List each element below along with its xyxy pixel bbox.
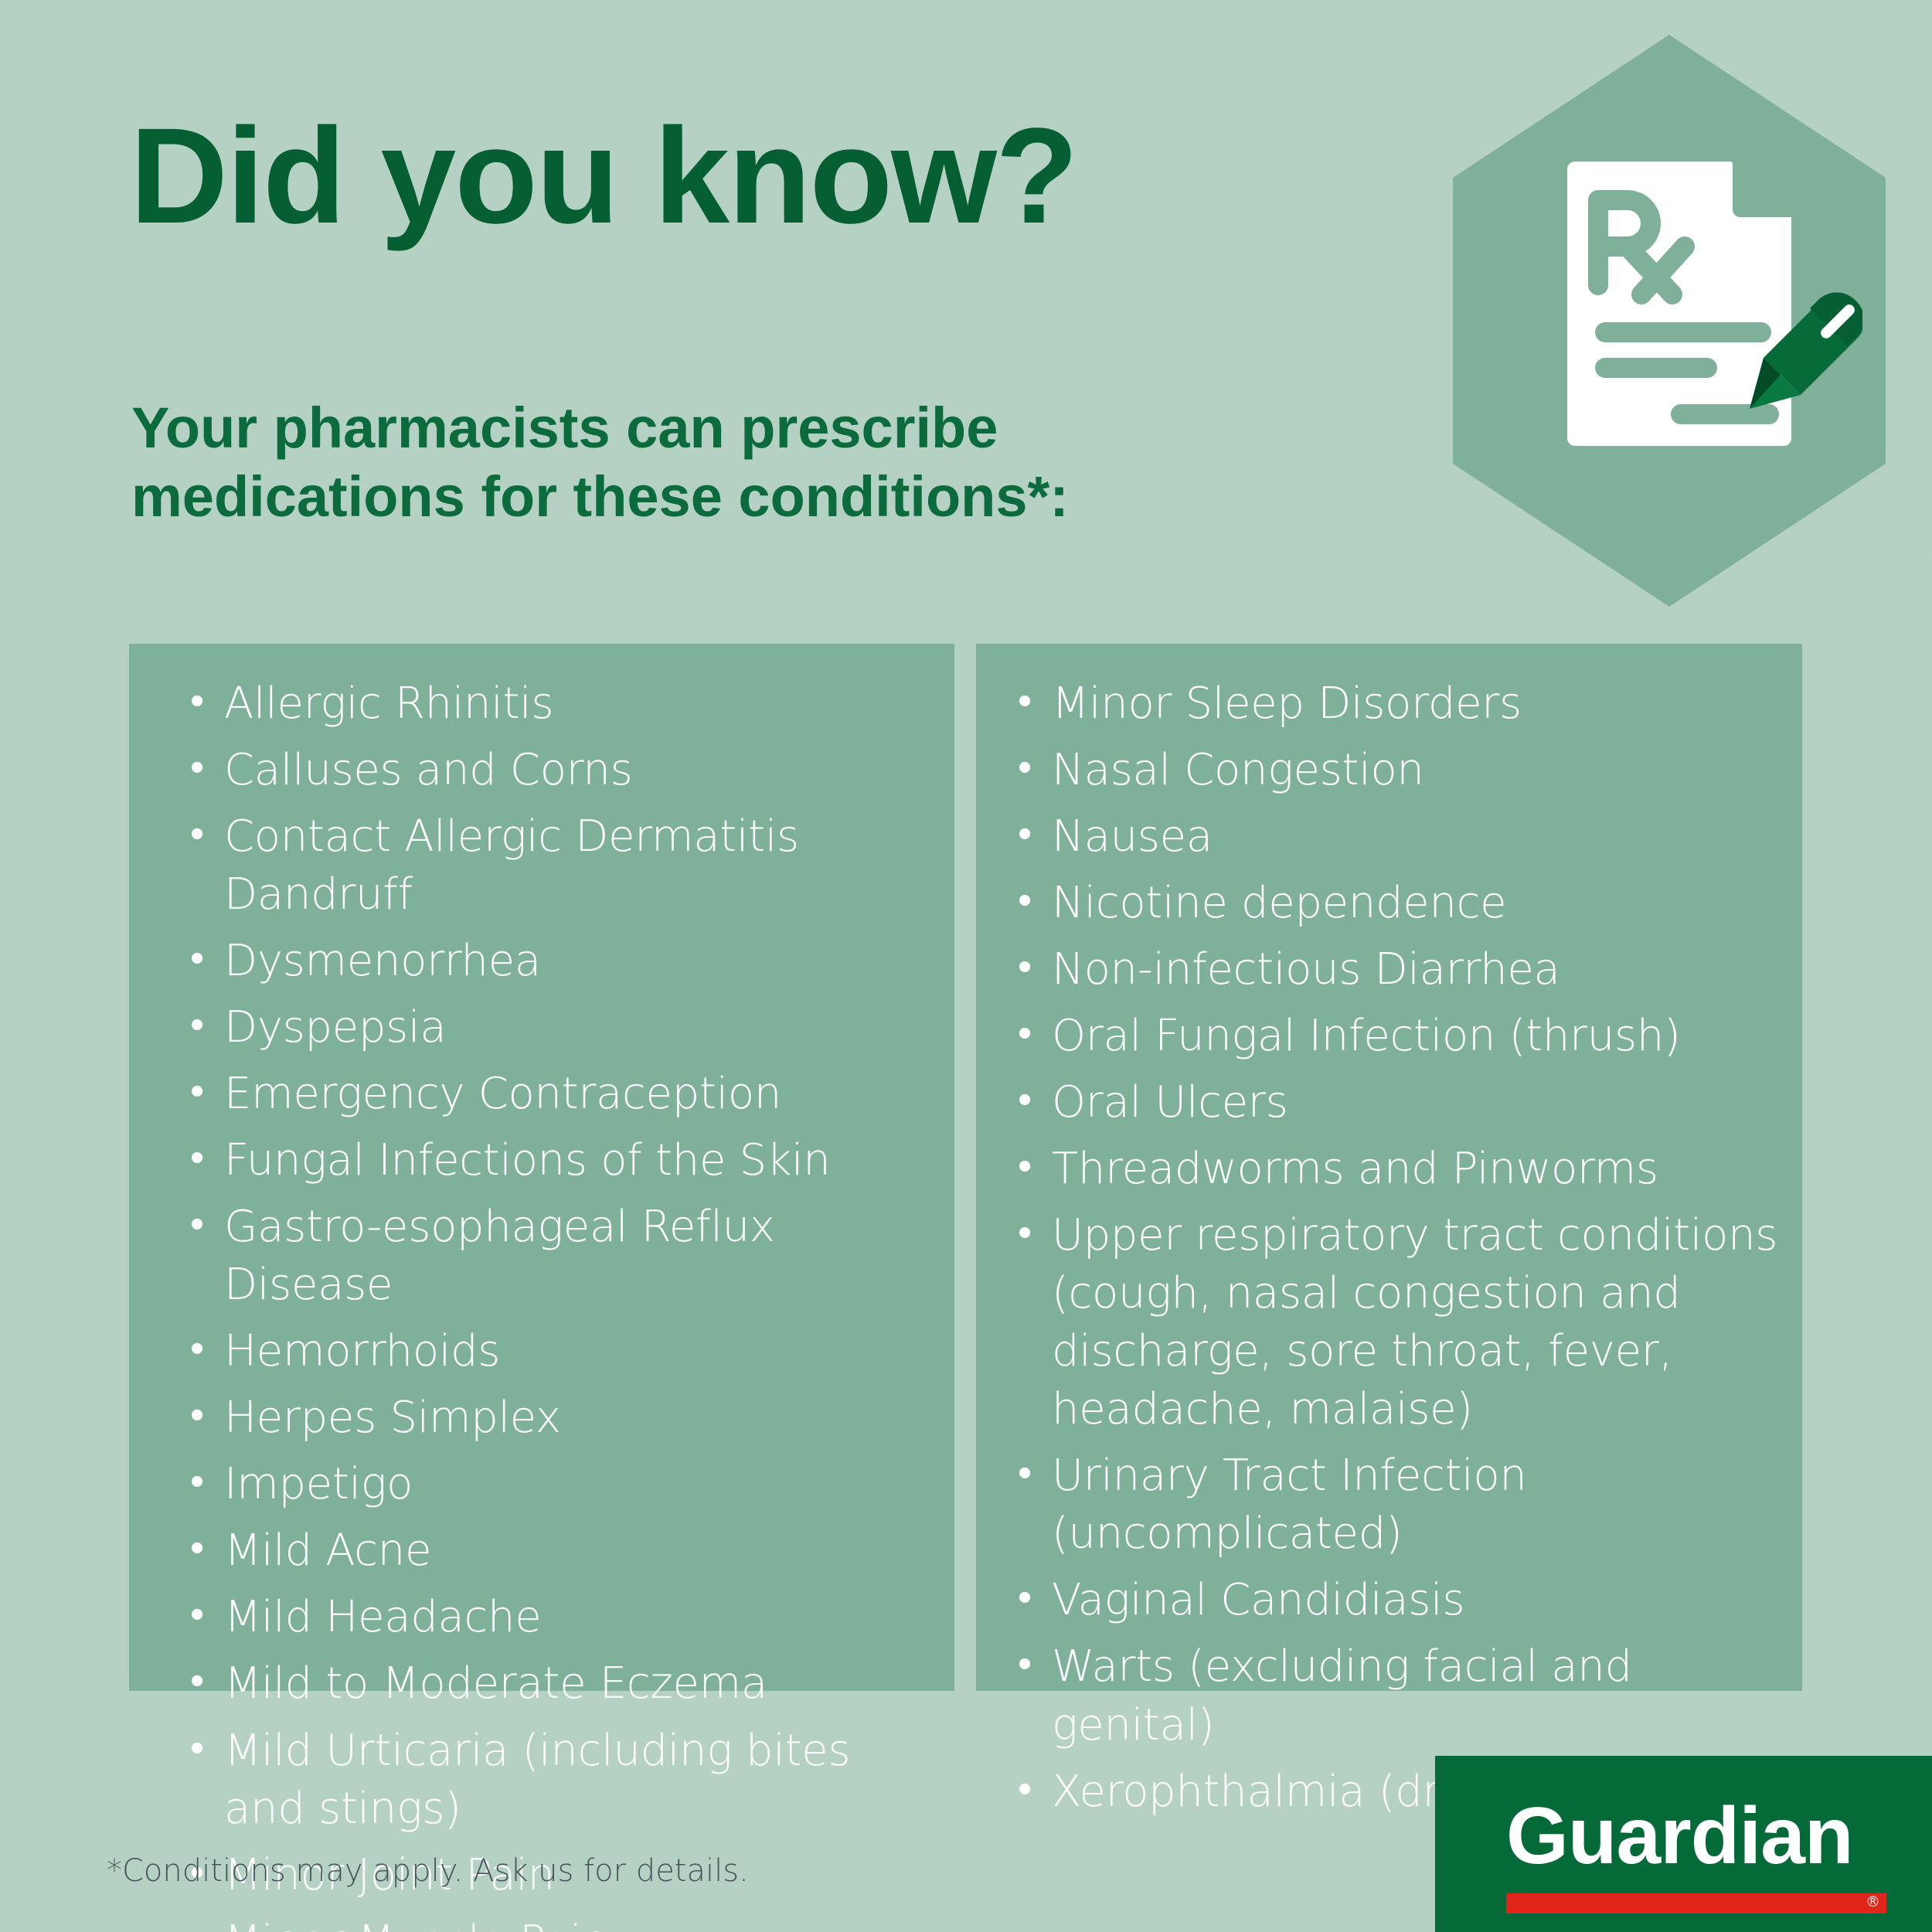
list-item: Nicotine dependence (1015, 874, 1787, 932)
page-title: Did you know? (130, 108, 1077, 244)
list-item: Warts (excluding facial and genital) (1015, 1638, 1787, 1753)
list-item: Oral Fungal Infection (thrush) (1015, 1007, 1787, 1065)
list-item: Minor Muscle Pain (187, 1913, 929, 1932)
registered-trademark-icon: ® (1866, 1895, 1880, 1910)
conditions-list-right: Minor Sleep Disorders Nasal Congestion N… (1015, 675, 1787, 1829)
list-item: Hemorrhoids (187, 1322, 929, 1380)
list-item: Non-infectious Diarrhea (1015, 940, 1787, 998)
infographic-poster: Did you know? Your pharmacists can presc… (0, 0, 1932, 1932)
list-item: Nasal Congestion (1015, 741, 1787, 799)
list-item: Dysmenorrhea (187, 932, 929, 990)
list-item: Minor Sleep Disorders (1015, 675, 1787, 733)
prescription-rx-icon (1561, 151, 1862, 460)
list-item: Nausea (1015, 808, 1787, 866)
list-item: Mild Headache (187, 1588, 929, 1646)
conditions-list-left: Allergic Rhinitis Calluses and Corns Con… (187, 675, 929, 1932)
list-item: Threadworms and Pinworms (1015, 1140, 1787, 1198)
footnote-disclaimer: *Conditions may apply. Ask us for detail… (107, 1853, 749, 1889)
list-item: Emergency Contraception (187, 1065, 929, 1123)
page-subtitle: Your pharmacists can prescribe medicatio… (131, 394, 1291, 532)
list-item: Mild Acne (187, 1522, 929, 1580)
list-item: Mild Urticaria (including bites and stin… (187, 1722, 929, 1838)
list-item: Vaginal Candidiasis (1015, 1571, 1787, 1629)
list-item: Mild to Moderate Eczema (187, 1655, 929, 1713)
list-item: Oral Ulcers (1015, 1073, 1787, 1131)
list-item: Dyspepsia (187, 998, 929, 1056)
list-item: Allergic Rhinitis (187, 675, 929, 733)
list-item: Fungal Infections of the Skin (187, 1131, 929, 1189)
conditions-panel-right: Minor Sleep Disorders Nasal Congestion N… (976, 644, 1802, 1691)
list-item: Upper respiratory tract conditions (coug… (1015, 1206, 1787, 1438)
list-item: Gastro-esophageal Reflux Disease (187, 1198, 929, 1314)
logo-wordmark: Guardian (1506, 1796, 1853, 1876)
list-item: Contact Allergic Dermatitis Dandruff (187, 808, 929, 923)
guardian-logo: Guardian ® (1435, 1756, 1932, 1932)
list-item: Impetigo (187, 1455, 929, 1513)
logo-red-bar: ® (1506, 1893, 1886, 1913)
list-item: Herpes Simplex (187, 1389, 929, 1447)
list-item: Urinary Tract Infection (uncomplicated) (1015, 1447, 1787, 1563)
list-item: Calluses and Corns (187, 741, 929, 799)
conditions-panel-left: Allergic Rhinitis Calluses and Corns Con… (129, 644, 954, 1691)
